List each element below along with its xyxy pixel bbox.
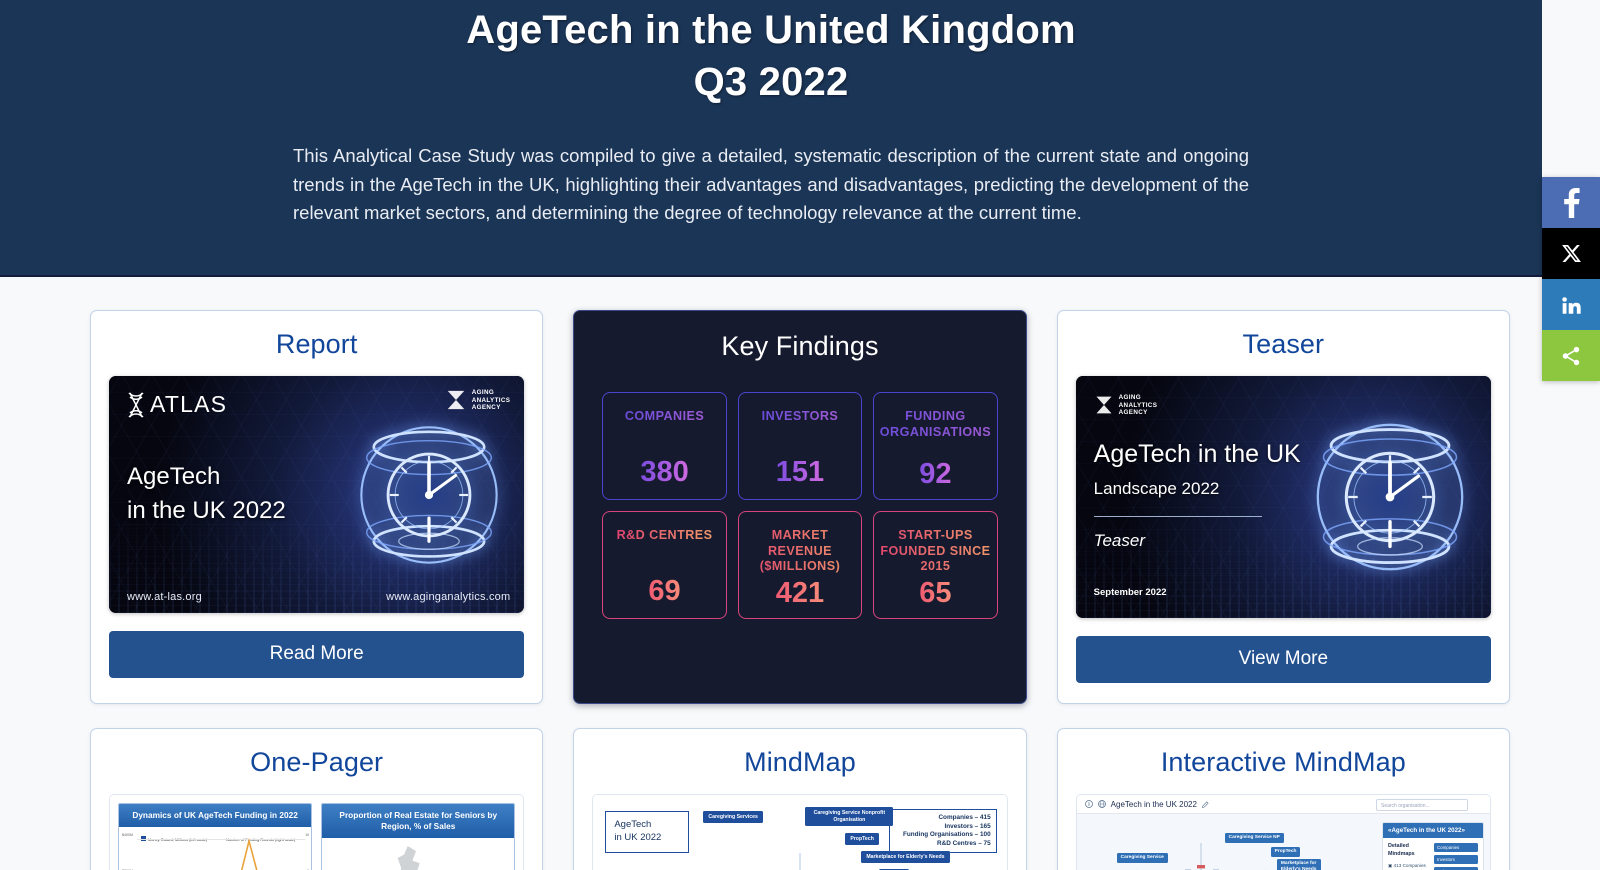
report-cover-heading: AgeTech in the UK 2022 (127, 460, 286, 528)
card-key-findings: Key Findings COMPANIES 380 INVESTORS 151… (573, 310, 1026, 704)
teaser-cover-divider (1094, 516, 1262, 517)
mindmap-corner-label: AgeTech in UK 2022 (605, 811, 689, 853)
mindmap-label-proptech: PropTech (845, 833, 879, 845)
report-cover-url-left: www.at-las.org (127, 591, 202, 603)
interactive-mindmap-side-panel: «AgeTech in the UK 2022» Detailed Mindma… (1382, 822, 1484, 870)
x-twitter-icon (1561, 243, 1582, 264)
key-findings-title: Key Findings (602, 331, 997, 362)
page-header: AgeTech in the United Kingdom Q3 2022 Th… (0, 0, 1542, 277)
share-nodes-icon (1560, 345, 1582, 367)
stat-rnd-centres-value: 69 (648, 577, 680, 606)
card-mindmap: MindMap AgeTech in UK 2022 Companies – 4… (573, 728, 1026, 870)
glowing-clock-orb-illustration (340, 406, 518, 584)
stat-investors: INVESTORS 151 (738, 392, 862, 500)
share-x-button[interactable] (1542, 228, 1600, 279)
interactive-mindmap-filter-chips: Companies Investors Hubs All Organisatio… (1434, 843, 1478, 870)
stat-funding-organisations-label: FUNDING ORGANISATIONS (874, 409, 996, 440)
teaser-cover-subheading: Landscape 2022 (1094, 479, 1220, 499)
interactive-mindmap-search-input[interactable]: Search organisation... (1376, 799, 1468, 811)
teaser-cover-kind: Teaser (1094, 531, 1145, 551)
card-one-pager: One-Pager Dynamics of UK AgeTech Funding… (90, 728, 543, 870)
stat-startups-founded-label: START-UPS FOUNDED SINCE 2015 (874, 528, 996, 575)
mindmap-stat-investors: Investors – 165 (895, 823, 991, 832)
teaser-cover-thumbnail[interactable]: AGING ANALYTICS AGENCY AgeTech in the UK… (1076, 376, 1491, 618)
one-pager-chart-panel: Dynamics of UK AgeTech Funding in 2022 $… (118, 803, 312, 870)
share-facebook-button[interactable] (1542, 177, 1600, 228)
teaser-cover: AGING ANALYTICS AGENCY AgeTech in the UK… (1076, 376, 1491, 618)
mindmap-stat-companies: Companies – 415 (895, 814, 991, 823)
aging-analytics-logo-text: AGING ANALYTICS AGENCY (1119, 394, 1158, 417)
one-pager-thumbnail[interactable]: Dynamics of UK AgeTech Funding in 2022 $… (109, 794, 524, 870)
mindmap-thumbnail[interactable]: AgeTech in UK 2022 Companies – 415 Inves… (592, 794, 1007, 870)
aging-analytics-logo: AGING ANALYTICS AGENCY (445, 389, 511, 412)
interactive-mindmap-tree: Detailed Mindmaps ▣ 413 Companies ▣ Care… (1388, 843, 1430, 870)
tree-item[interactable]: ▣ 413 Companies (1388, 861, 1430, 870)
report-read-more-button[interactable]: Read More (109, 631, 524, 678)
linkedin-icon (1560, 294, 1582, 316)
interactive-mindmap-label-caregiving-service-np[interactable]: Caregiving Service NP (1225, 833, 1284, 843)
one-pager-map-title: Proportion of Real Estate for Seniors by… (322, 804, 514, 838)
stat-funding-organisations-value: 92 (919, 460, 951, 489)
one-pager-chart-body: $400M $200M 10 5 Money Raised, Millions … (119, 827, 311, 870)
aging-analytics-logo-text: AGING ANALYTICS AGENCY (472, 389, 511, 412)
edit-pencil-icon[interactable] (1202, 795, 1209, 813)
uk-map-shape (388, 846, 434, 870)
interactive-mindmap-tree-heading: Detailed Mindmaps (1388, 843, 1430, 858)
card-report-title: Report (109, 329, 524, 360)
interactive-mindmap-thumbnail[interactable]: AgeTech in the UK 2022 Search organisati… (1076, 794, 1491, 870)
card-teaser: Teaser (1057, 310, 1510, 704)
stat-companies-value: 380 (640, 458, 688, 487)
mindmap-preview: AgeTech in UK 2022 Companies – 415 Inves… (593, 795, 1006, 870)
interactive-mindmap-preview: AgeTech in the UK 2022 Search organisati… (1077, 795, 1490, 870)
stat-market-revenue-label: MARKET REVENUE ($MILLIONS) (739, 528, 861, 575)
interactive-mindmap-label-caregiving-service[interactable]: Caregiving Service (1117, 853, 1168, 863)
info-icon[interactable] (1085, 795, 1093, 813)
teaser-cover-heading: AgeTech in the UK (1094, 440, 1301, 469)
mindmap-label-caregiving-nonprofit: Caregiving Service Nonprofit Organisatio… (805, 807, 893, 826)
one-pager-preview: Dynamics of UK AgeTech Funding in 2022 $… (110, 795, 523, 870)
interactive-mindmap-panel-body: Detailed Mindmaps ▣ 413 Companies ▣ Care… (1383, 838, 1483, 870)
card-mindmap-title: MindMap (592, 747, 1007, 778)
card-teaser-title: Teaser (1076, 329, 1491, 360)
share-linkedin-button[interactable] (1542, 279, 1600, 330)
hourglass-icon (445, 389, 467, 411)
chart-y2-axis-top-label: 10 (305, 833, 309, 837)
one-pager-chart-title: Dynamics of UK AgeTech Funding in 2022 (119, 804, 311, 827)
mindmap-label-caregiving-services: Caregiving Services (703, 811, 763, 823)
page-description: This Analytical Case Study was compiled … (291, 142, 1251, 228)
stat-funding-organisations: FUNDING ORGANISATIONS 92 (873, 392, 997, 500)
interactive-mindmap-label-proptech[interactable]: PropTech (1271, 847, 1301, 857)
mindmap-label-marketplace: Marketplace for Elderly's Needs (861, 851, 949, 863)
page-title: AgeTech in the United Kingdom Q3 2022 (291, 4, 1251, 108)
card-one-pager-title: One-Pager (109, 747, 524, 778)
page-title-line2: Q3 2022 (291, 56, 1251, 108)
teaser-view-more-button[interactable]: View More (1076, 636, 1491, 683)
key-findings-grid: COMPANIES 380 INVESTORS 151 FUNDING ORGA… (602, 392, 997, 619)
social-share-rail (1542, 177, 1600, 381)
interactive-mindmap-toolbar-title: AgeTech in the UK 2022 (1111, 800, 1197, 809)
content-grid: Report (90, 277, 1510, 870)
stat-market-revenue-value: 421 (776, 579, 824, 608)
share-more-button[interactable] (1542, 330, 1600, 381)
aging-analytics-logo: AGING ANALYTICS AGENCY (1094, 394, 1158, 417)
page-title-line1: AgeTech in the United Kingdom (466, 8, 1076, 52)
hourglass-icon (1094, 395, 1114, 415)
stat-investors-value: 151 (776, 458, 824, 487)
chart-y-axis-top-label: $400M (122, 833, 133, 837)
filter-chip-investors[interactable]: Investors (1434, 855, 1478, 864)
card-interactive-mindmap-title: Interactive MindMap (1076, 747, 1491, 778)
page-root: AgeTech in the United Kingdom Q3 2022 Th… (0, 0, 1600, 870)
report-cover-thumbnail[interactable]: ATLAS AGING ANALYTICS AGENCY AgeTec (109, 376, 524, 613)
stat-startups-founded-value: 65 (919, 579, 951, 608)
report-cover-url-right: www.aginganalytics.com (386, 591, 510, 603)
atlas-helix-icon (126, 392, 146, 418)
filter-chip-companies[interactable]: Companies (1434, 843, 1478, 852)
glowing-clock-orb-illustration (1295, 402, 1485, 592)
mindmap-stat-funding-organisations: Funding Organisations – 100 (895, 831, 991, 840)
interactive-mindmap-label-marketplace[interactable]: Marketplace for Elderly's Needs (1277, 859, 1321, 870)
atlas-logo: ATLAS (126, 391, 227, 418)
one-pager-map-body: North West 6% 2% Yorkshire & Humber 7% (322, 838, 514, 870)
stat-investors-label: INVESTORS (762, 409, 839, 425)
teaser-cover-date: September 2022 (1094, 587, 1167, 598)
stat-rnd-centres-label: R&D CENTRES (617, 528, 713, 544)
facebook-icon (1563, 188, 1580, 218)
one-pager-map-panel: Proportion of Real Estate for Seniors by… (321, 803, 515, 870)
atlas-logo-text: ATLAS (150, 391, 227, 418)
card-report: Report (90, 310, 543, 704)
globe-icon[interactable] (1098, 795, 1106, 813)
chart-line-series (137, 827, 277, 870)
card-interactive-mindmap: Interactive MindMap AgeTech in the UK 20… (1057, 728, 1510, 870)
stat-market-revenue: MARKET REVENUE ($MILLIONS) 421 (738, 511, 862, 619)
stat-rnd-centres: R&D CENTRES 69 (602, 511, 726, 619)
report-cover: ATLAS AGING ANALYTICS AGENCY AgeTec (109, 376, 524, 613)
stat-companies-label: COMPANIES (625, 409, 704, 425)
interactive-mindmap-panel-title: «AgeTech in the UK 2022» (1383, 823, 1483, 838)
stat-companies: COMPANIES 380 (602, 392, 726, 500)
stat-startups-founded: START-UPS FOUNDED SINCE 2015 65 (873, 511, 997, 619)
